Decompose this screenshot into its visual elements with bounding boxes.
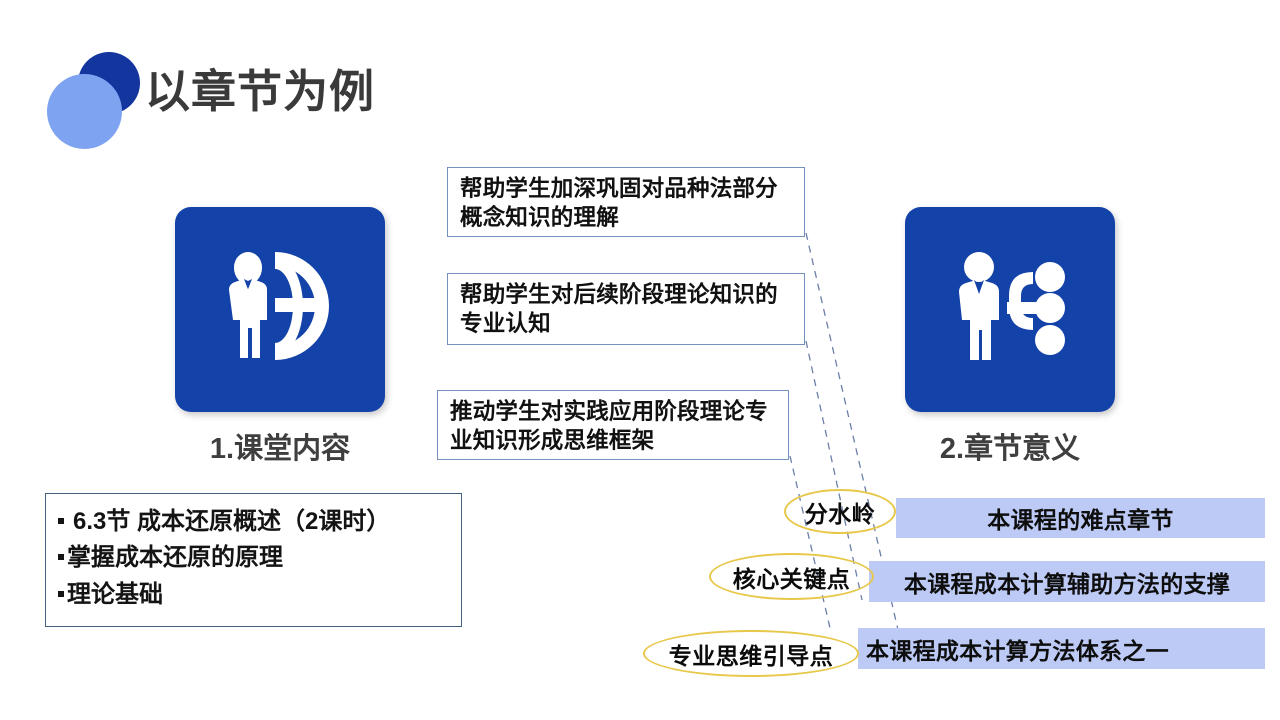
title-group: 以章节为例: [0, 0, 520, 160]
tag-ellipse-1: 分水岭: [784, 489, 896, 534]
lesson-outline-box: 6.3节 成本还原概述（2课时） 掌握成本还原的原理 理论基础: [45, 493, 462, 627]
connector-line-3: [790, 456, 830, 628]
card-caption-chapter-significance: 2.章节意义: [880, 425, 1140, 467]
middle-text-box-1: 帮助学生加深巩固对品种法部分概念知识的理解: [447, 167, 805, 237]
card-caption-classroom-content: 1.课堂内容: [150, 425, 410, 467]
list-item-label: 理论基础: [67, 581, 163, 608]
tag-ellipse-3: 专业思维引导点: [643, 630, 859, 677]
middle-text-box-2: 帮助学生对后续阶段理论知识的专业认知: [447, 273, 805, 345]
list-item-label: 掌握成本还原的原理: [67, 544, 283, 571]
list-item-label: 6.3节 成本还原概述（2课时）: [73, 508, 390, 535]
businessman-globe-icon: [215, 250, 345, 370]
result-bar-1: 本课程的难点章节: [896, 498, 1265, 538]
businessman-orgchart-icon: [945, 250, 1075, 370]
bullet-square-icon: [58, 518, 64, 524]
result-bar-3: 本课程成本计算方法体系之一: [858, 628, 1265, 669]
icon-card-classroom-content[interactable]: [175, 207, 385, 412]
middle-text-box-3: 推动学生对实践应用阶段理论专业知识形成思维框架: [437, 390, 789, 460]
list-item: 掌握成本还原的原理: [58, 540, 453, 576]
decorative-circle-light: [47, 74, 122, 149]
icon-card-chapter-significance[interactable]: [905, 207, 1115, 412]
bullet-square-icon: [58, 591, 64, 597]
list-item: 理论基础: [58, 577, 453, 613]
page-title: 以章节为例: [145, 66, 375, 118]
tag-ellipse-2: 核心关键点: [709, 553, 874, 600]
result-bar-2: 本课程成本计算辅助方法的支撑: [869, 561, 1265, 602]
list-item: 6.3节 成本还原概述（2课时）: [58, 504, 453, 540]
slide-canvas: 以章节为例: [0, 0, 1280, 720]
bullet-square-icon: [58, 554, 64, 560]
